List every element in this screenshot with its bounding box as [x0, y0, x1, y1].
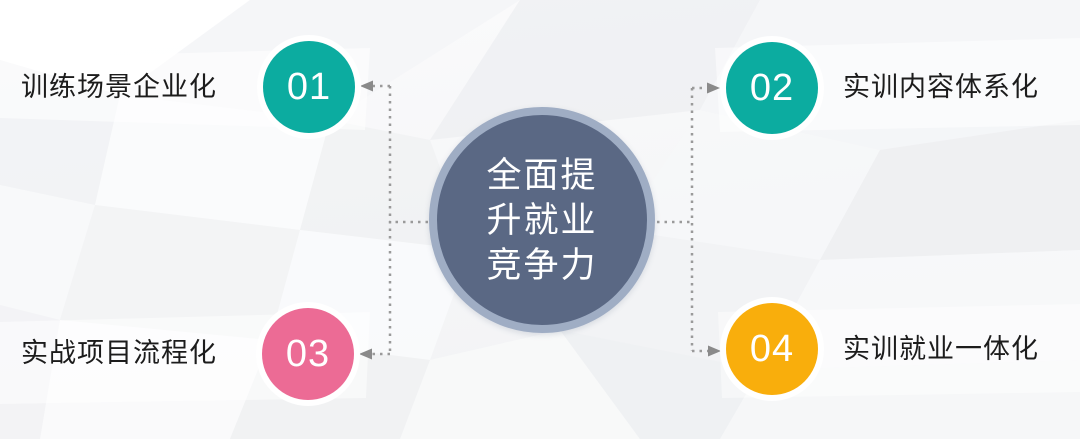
node-03[interactable]: 03	[256, 302, 360, 406]
node-04-number: 04	[750, 330, 794, 368]
node-02[interactable]: 02	[720, 36, 824, 140]
node-03-number: 03	[286, 335, 330, 373]
node-04-disc: 04	[726, 303, 818, 395]
node-01-disc: 01	[263, 41, 355, 133]
node-02-disc: 02	[726, 42, 818, 134]
node-03-disc: 03	[262, 308, 354, 400]
hub-text-line-3: 竞争力	[486, 243, 597, 288]
arrowhead-node-02	[707, 83, 720, 94]
arrowhead-node-01	[360, 81, 373, 92]
node-01-number: 01	[287, 68, 331, 106]
hub-text-line-2: 升就业	[486, 198, 597, 243]
arrowhead-node-03	[359, 349, 372, 360]
node-04-label: 实训就业一体化	[843, 332, 1039, 366]
node-02-label: 实训内容体系化	[843, 70, 1039, 104]
node-01-label: 训练场景企业化	[21, 70, 217, 104]
hub-text-line-1: 全面提	[486, 153, 597, 198]
node-02-number: 02	[750, 69, 794, 107]
node-03-label: 实战项目流程化	[21, 336, 217, 370]
center-hub: 全面提 升就业 竞争力	[429, 107, 655, 333]
infographic-slide: 全面提 升就业 竞争力 01 训练场景企业化 02 实训内容体系化 03 实战项…	[0, 0, 1080, 439]
node-04[interactable]: 04	[720, 297, 824, 401]
node-01[interactable]: 01	[257, 35, 361, 139]
